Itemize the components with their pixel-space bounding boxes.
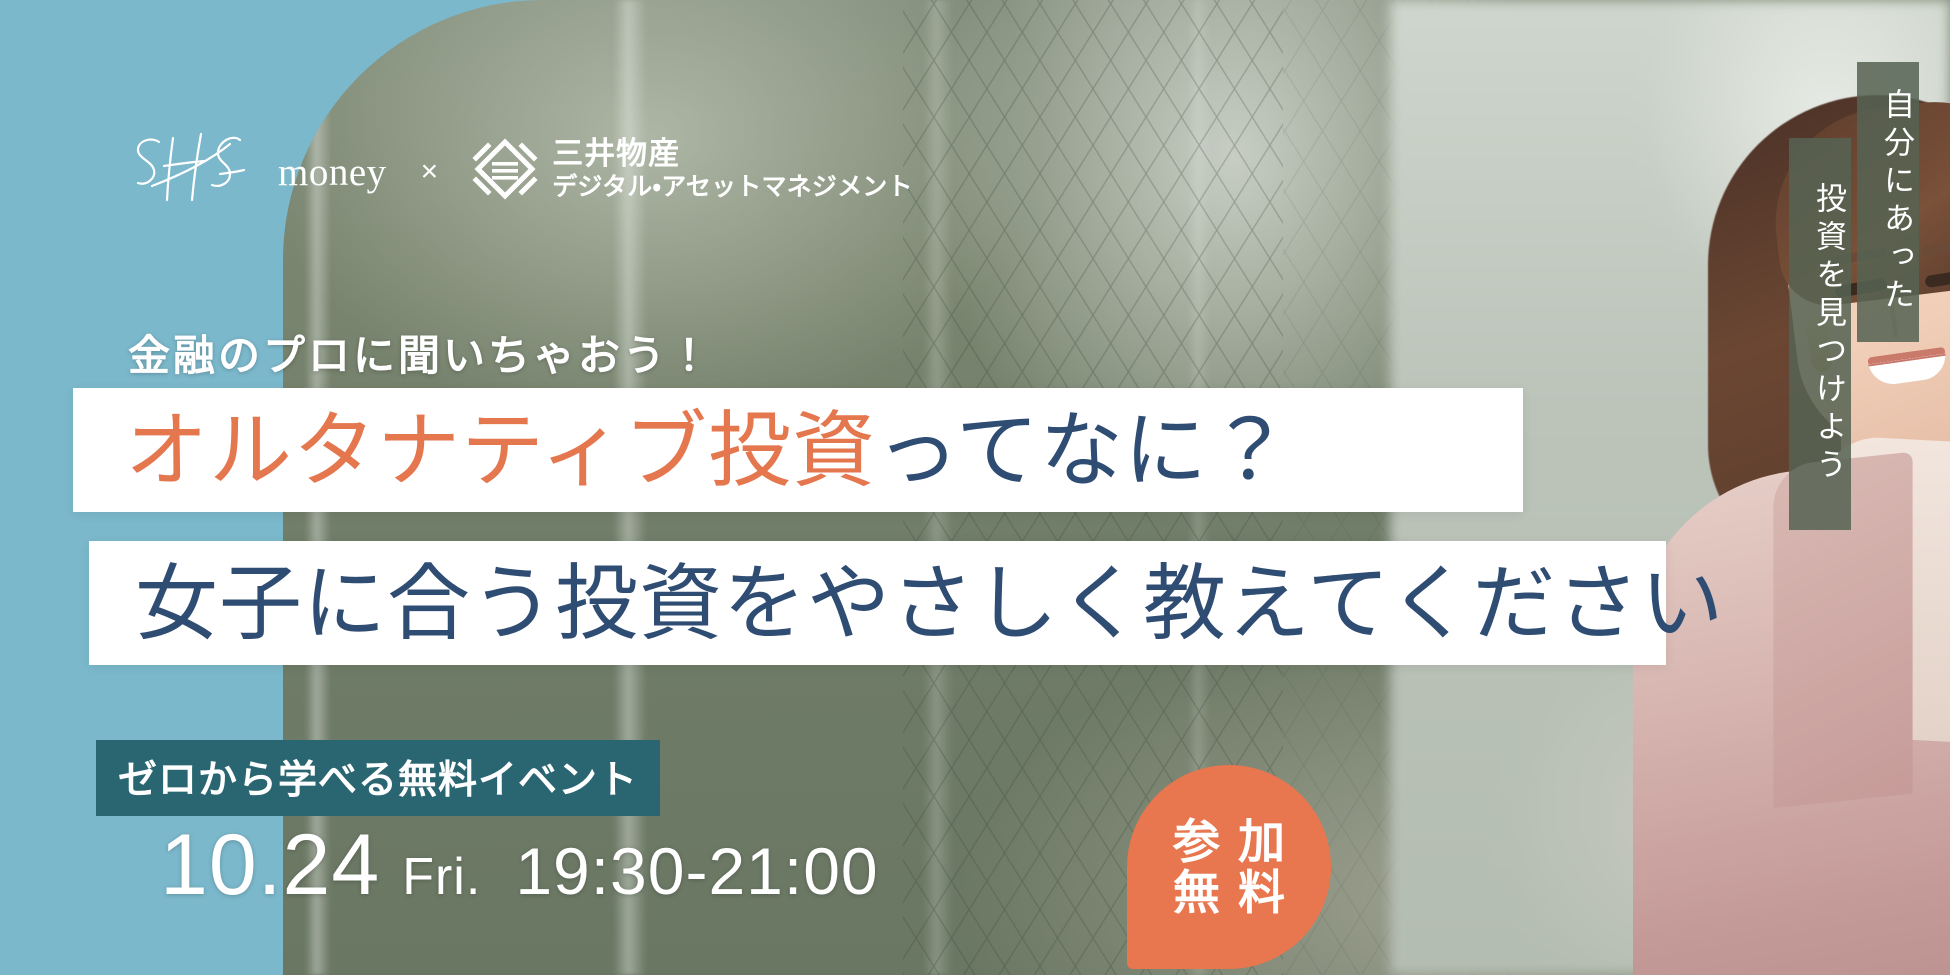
logo-lockup: money × 三井物産 デジタル・アセットマネジメント — [128, 130, 913, 208]
event-promo-banner: money × 三井物産 デジタル・アセットマネジメント 金融のプロに聞いちゃお… — [0, 0, 1950, 975]
event-time: 19:30-21:00 — [515, 833, 878, 909]
badge-char-3: 無 — [1173, 869, 1220, 916]
vertical-label-lower: 投資を見つけよう — [1789, 138, 1851, 530]
vertical-label-upper: 自分にあった — [1857, 62, 1919, 342]
partner-name-line2: デジタル・アセットマネジメント — [552, 173, 913, 203]
badge-char-4: 料 — [1238, 869, 1285, 916]
headline-secondary-text: 女子に合う投資をやさしく教えてください — [135, 562, 1724, 645]
she-script-logo-icon — [128, 130, 260, 208]
headline-box-secondary: 女子に合う投資をやさしく教えてください — [89, 541, 1666, 665]
event-weekday: Fri. — [402, 847, 481, 907]
badge-char-1: 参 — [1173, 818, 1220, 865]
headline-box-primary: オルタナティブ投資ってなに？ — [73, 388, 1523, 512]
logo-money-text: money — [278, 150, 387, 195]
cross-symbol: × — [421, 155, 439, 189]
partner-name-line1: 三井物産 — [552, 136, 913, 173]
free-event-tag: ゼロから学べる無料イベント — [96, 740, 660, 816]
free-participation-badge: 参 加 無 料 — [1127, 765, 1331, 969]
partner-logo-block: 三井物産 デジタル・アセットマネジメント — [472, 136, 913, 202]
mitsui-diamond-logo-icon — [472, 136, 538, 202]
event-date: 10.24 — [160, 816, 380, 915]
badge-char-2: 加 — [1238, 818, 1285, 865]
event-datetime: 10.24 Fri. 19:30-21:00 — [160, 816, 879, 915]
kicker-text: 金融のプロに聞いちゃおう！ — [128, 322, 713, 383]
headline-accent-text: オルタナティブ投資 — [125, 404, 876, 497]
headline-rest-text: ってなに？ — [876, 404, 1292, 497]
